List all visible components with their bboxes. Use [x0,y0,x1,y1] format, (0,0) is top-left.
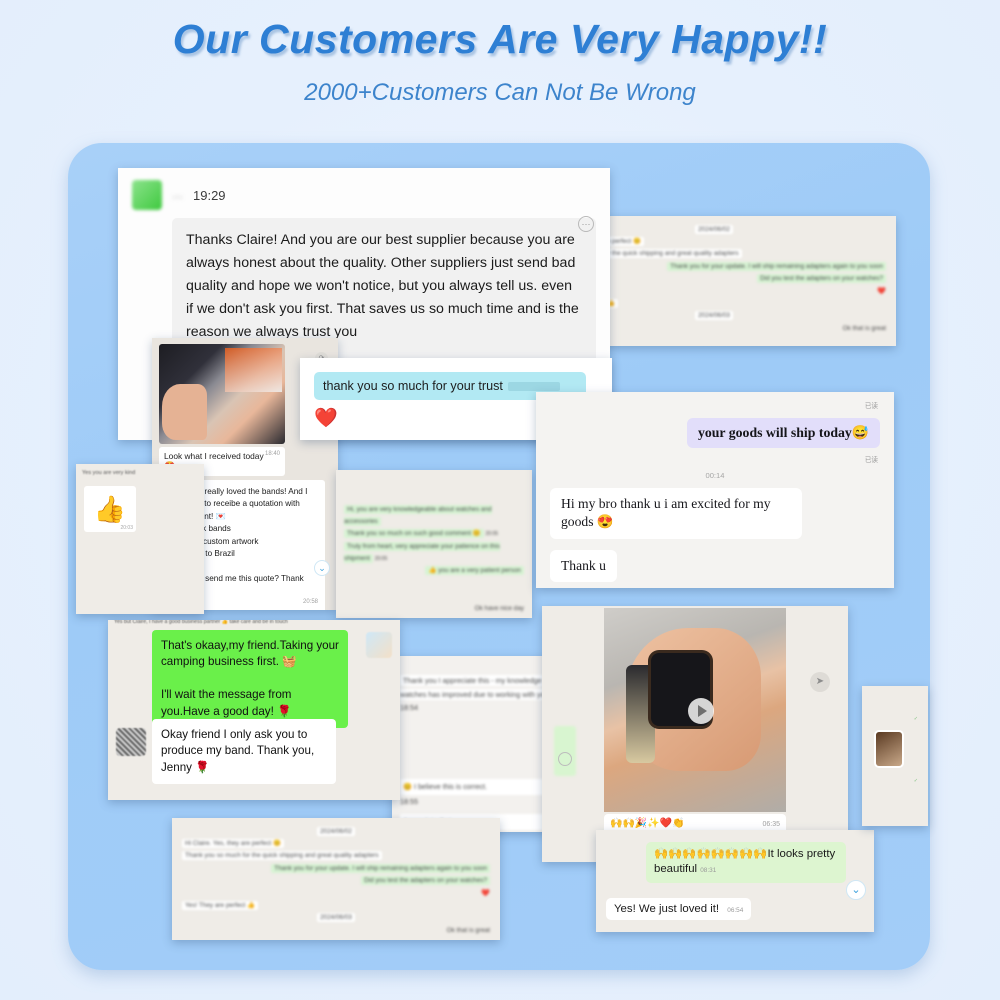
camping-text-1: That's okaay,my friend.Taking your campi… [161,639,339,668]
camping-green-bubble: That's okaay,my friend.Taking your campi… [152,630,348,728]
knowledge-time: 18:54 [400,703,418,712]
green-line-4: 👍 you are a very patient person [425,566,524,575]
ship-emoji-icon: 😅 [852,425,869,440]
caption-time: 18:40 [265,451,280,457]
date-divider-2: 2024/06/03 [317,913,355,922]
chat-screenshot-video-watch[interactable]: ➤ 06:35 🙌🙌🎉✨❤️👏 [542,606,848,862]
chat-line-out-1: Thank you for your update. I will ship r… [271,864,490,873]
camping-text-2: I'll wait the message from you.Have a go… [161,688,291,717]
chat-header: … 19:29 [118,168,610,214]
kind-message: Yes you are very kind [82,470,135,476]
check-icon-bottom: ✓ [914,778,918,784]
read-receipt-top: 已读 [865,400,878,410]
avatar [116,728,146,756]
green-line-2: Thank you so much on such good comment 😊 [344,529,484,538]
date-divider: 2024/06/02 [317,827,355,836]
ship-today-text: your goods will ship today [698,425,852,440]
chat-line-out-2: Did you test the adapters on your watche… [361,876,490,885]
check-icon-top: ✓ [914,716,918,722]
green-line-3: Truly from heart, very appreciate your p… [344,542,500,563]
chat-line-in-3: Yes! They are perfect 👍 [182,901,258,910]
knowledge-message: Thank you I appreciate this - my knowled… [400,675,552,700]
read-receipt-bottom: 已读 [865,454,878,464]
scroll-down-icon[interactable]: ⌄ [846,880,866,900]
chat-line-out-1: Thank you for your update. I will ship r… [667,262,886,271]
date-divider: 2024/06/02 [695,225,733,234]
loved-it-bubble: Yes! We just loved it! 06:54 [606,898,751,920]
sticker-time: 20:03 [120,526,133,531]
date-divider-2: 2024/06/03 [695,311,733,320]
ship-today-bubble: your goods will ship today😅 [687,418,880,448]
avatar [132,180,162,210]
chat-screenshot-sliver[interactable]: ✓ ✓ [862,686,928,826]
reaction-heart-icon: ❤️ [182,887,490,900]
green-time-2: 20:05 [486,531,499,537]
chat-screenshot-thumbs-up[interactable]: Yes you are very kind 👍 20:03 [76,464,204,614]
green-line-1: Hi, you are very knowledgeable about wat… [344,505,492,526]
sticker-icon [366,632,392,658]
chat-screenshot-camping[interactable]: Yes but Claire, I have a good business p… [108,620,400,800]
correct-time: 18:55 [400,797,418,806]
green-footer: Ok have nice day [344,603,524,615]
partial-green-bubble [554,726,576,776]
excited-reply-bubble: Hi my bro thank u i am excited for my go… [550,488,802,539]
blurred-name-mask [508,382,560,391]
correct-message: 😊 I believe this is correct. [400,779,560,795]
camping-white-bubble: Okay friend I only ask you to produce my… [152,719,336,784]
sender-name: … [172,189,183,201]
chat-screenshot-ship-today[interactable]: 已读 your goods will ship today😅 已读 00:14 … [536,392,894,588]
green-time-3: 20:05 [375,556,388,562]
loved-it-time: 06:54 [727,907,743,914]
excited-reply-text: Hi my bro thank u i am excited for my go… [561,496,771,529]
business-partner-line: Yes but Claire, I have a good business p… [114,620,288,625]
chat-closing: Ok that is great [182,925,490,937]
message-time: 19:29 [193,188,226,203]
testimonial-text: Thanks Claire! And you are our best supp… [186,232,579,340]
thank-u-bubble: Thank u [550,550,617,582]
beautiful-text: 🙌🙌🙌🙌🙌🙌🙌🙌It looks pretty beautiful [654,848,835,875]
beautiful-time: 08:31 [700,867,716,874]
chat-line-in-2: Thank you so much for the quick shipping… [182,851,382,860]
emoji-button-icon[interactable] [558,752,572,766]
beautiful-green-bubble: 🙌🙌🙌🙌🙌🙌🙌🙌It looks pretty beautiful 08:31 [646,842,846,883]
excited-emoji-icon: 😍 [597,514,614,529]
chat-line-in-1: Hi Claire. Yes, they are perfect 😊 [182,839,284,848]
play-button-icon[interactable] [688,698,714,724]
chat-screenshot-patient-person[interactable]: Hi, you are very knowledgeable about wat… [336,470,532,618]
caption-text: Look what I received today [164,451,264,461]
heart-reaction-icon: ❤️ [314,406,338,430]
more-options-icon[interactable]: ⋯ [578,216,594,232]
thumbnail-image [876,732,902,766]
ship-divider-time: 00:14 [536,471,894,480]
screenshot-collage: 2024/06/02 Hi Claire. Yes, they are perf… [0,0,1000,1000]
thumbs-up-sticker-icon: 👍 20:03 [84,486,136,532]
trust-text: thank you so much for your trust [323,379,503,393]
received-bands-photo [159,344,285,444]
chat-screenshot-adapters-bottom[interactable]: 2024/06/02 Hi Claire. Yes, they are perf… [172,818,500,940]
thumbs-up-glyph: 👍 [94,494,126,524]
video-reaction-emojis: 🙌🙌🎉✨❤️👏 [610,818,685,829]
scroll-down-icon[interactable]: ⌄ [314,560,330,576]
chat-screenshot-loved-it[interactable]: 🙌🙌🙌🙌🙌🙌🙌🙌It looks pretty beautiful 08:31 … [596,830,874,932]
chat-line-out-2: Did you test the adapters on your watche… [757,274,886,283]
loved-it-text: Yes! We just loved it! [614,903,719,915]
forward-icon[interactable]: ➤ [810,672,830,692]
